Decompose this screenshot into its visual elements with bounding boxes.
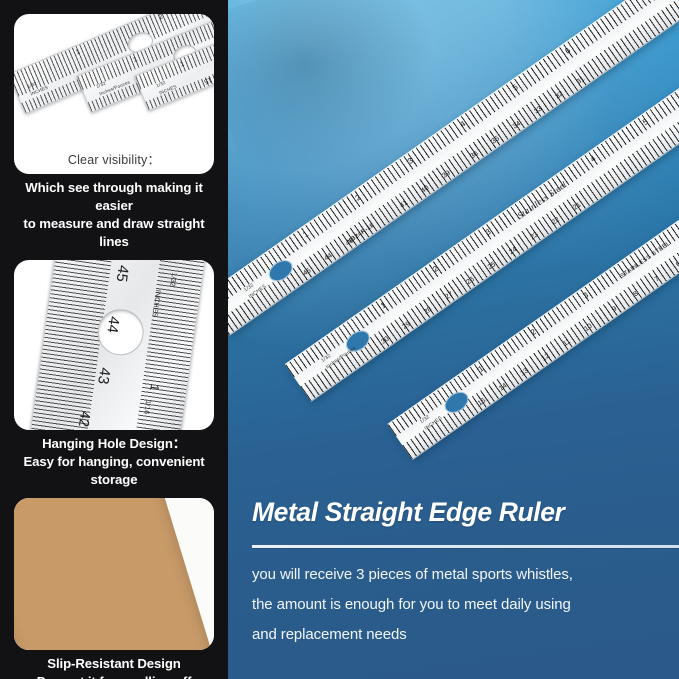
feature-photo-clear-visibility: 1 2 45 1/32 INCHES 1 30 1/32 Inches/Pouc… bbox=[14, 14, 214, 174]
hero-panel: 1 2 3 4 5 6 NB24R-18 45 44 43 41 40 39 3… bbox=[228, 0, 679, 679]
description-line-3: and replacement needs bbox=[252, 620, 664, 650]
caption-line-1: Which see through making it easier bbox=[25, 180, 203, 213]
hero-title: Metal Straight Edge Ruler bbox=[252, 497, 564, 528]
caption-line-2: Easy for hanging, convenient storage bbox=[7, 453, 221, 489]
cork-strip bbox=[14, 498, 214, 650]
caption-line-1: Slip-Resistant Design bbox=[47, 656, 180, 671]
infographic-root: 1 2 45 1/32 INCHES 1 30 1/32 Inches/Pouc… bbox=[0, 0, 679, 679]
title-divider bbox=[252, 545, 679, 548]
feature-caption-hanging-hole: Hanging Hole Design： Easy for hanging, c… bbox=[7, 435, 221, 489]
feature-block-hanging-hole: 45 44 43 42 1/32 INCHES 1 1/16 Hanging H… bbox=[0, 251, 228, 489]
feature-inner-caption: Clear visibility： bbox=[14, 149, 214, 168]
feature-photo-slip-resistant bbox=[14, 498, 214, 650]
feature-photo-hanging-hole: 45 44 43 42 1/32 INCHES 1 1/16 bbox=[14, 260, 214, 430]
feature-block-clear-visibility: 1 2 45 1/32 INCHES 1 30 1/32 Inches/Pouc… bbox=[0, 0, 228, 251]
caption-line-1: Hanging Hole Design： bbox=[42, 436, 186, 451]
description-line-1: you will receive 3 pieces of metal sport… bbox=[252, 560, 664, 590]
left-feature-column: 1 2 45 1/32 INCHES 1 30 1/32 Inches/Pouc… bbox=[0, 0, 228, 679]
feature-caption-slip-resistant: Slip-Resistant Design Prevent it from ro… bbox=[7, 655, 221, 679]
cork-photo bbox=[14, 498, 214, 650]
feature-caption-clear-visibility: Which see through making it easier to me… bbox=[7, 179, 221, 251]
caption-line-2: Prevent it from rolling off bbox=[7, 673, 221, 679]
feature-block-slip-resistant: Slip-Resistant Design Prevent it from ro… bbox=[0, 489, 228, 679]
hero-description: you will receive 3 pieces of metal sport… bbox=[252, 560, 664, 650]
ruler-artwork: 45 44 43 42 1/32 INCHES 1 1/16 bbox=[28, 260, 206, 430]
description-line-2: the amount is enough for you to meet dai… bbox=[252, 590, 664, 620]
caption-line-2: to measure and draw straight lines bbox=[7, 215, 221, 251]
